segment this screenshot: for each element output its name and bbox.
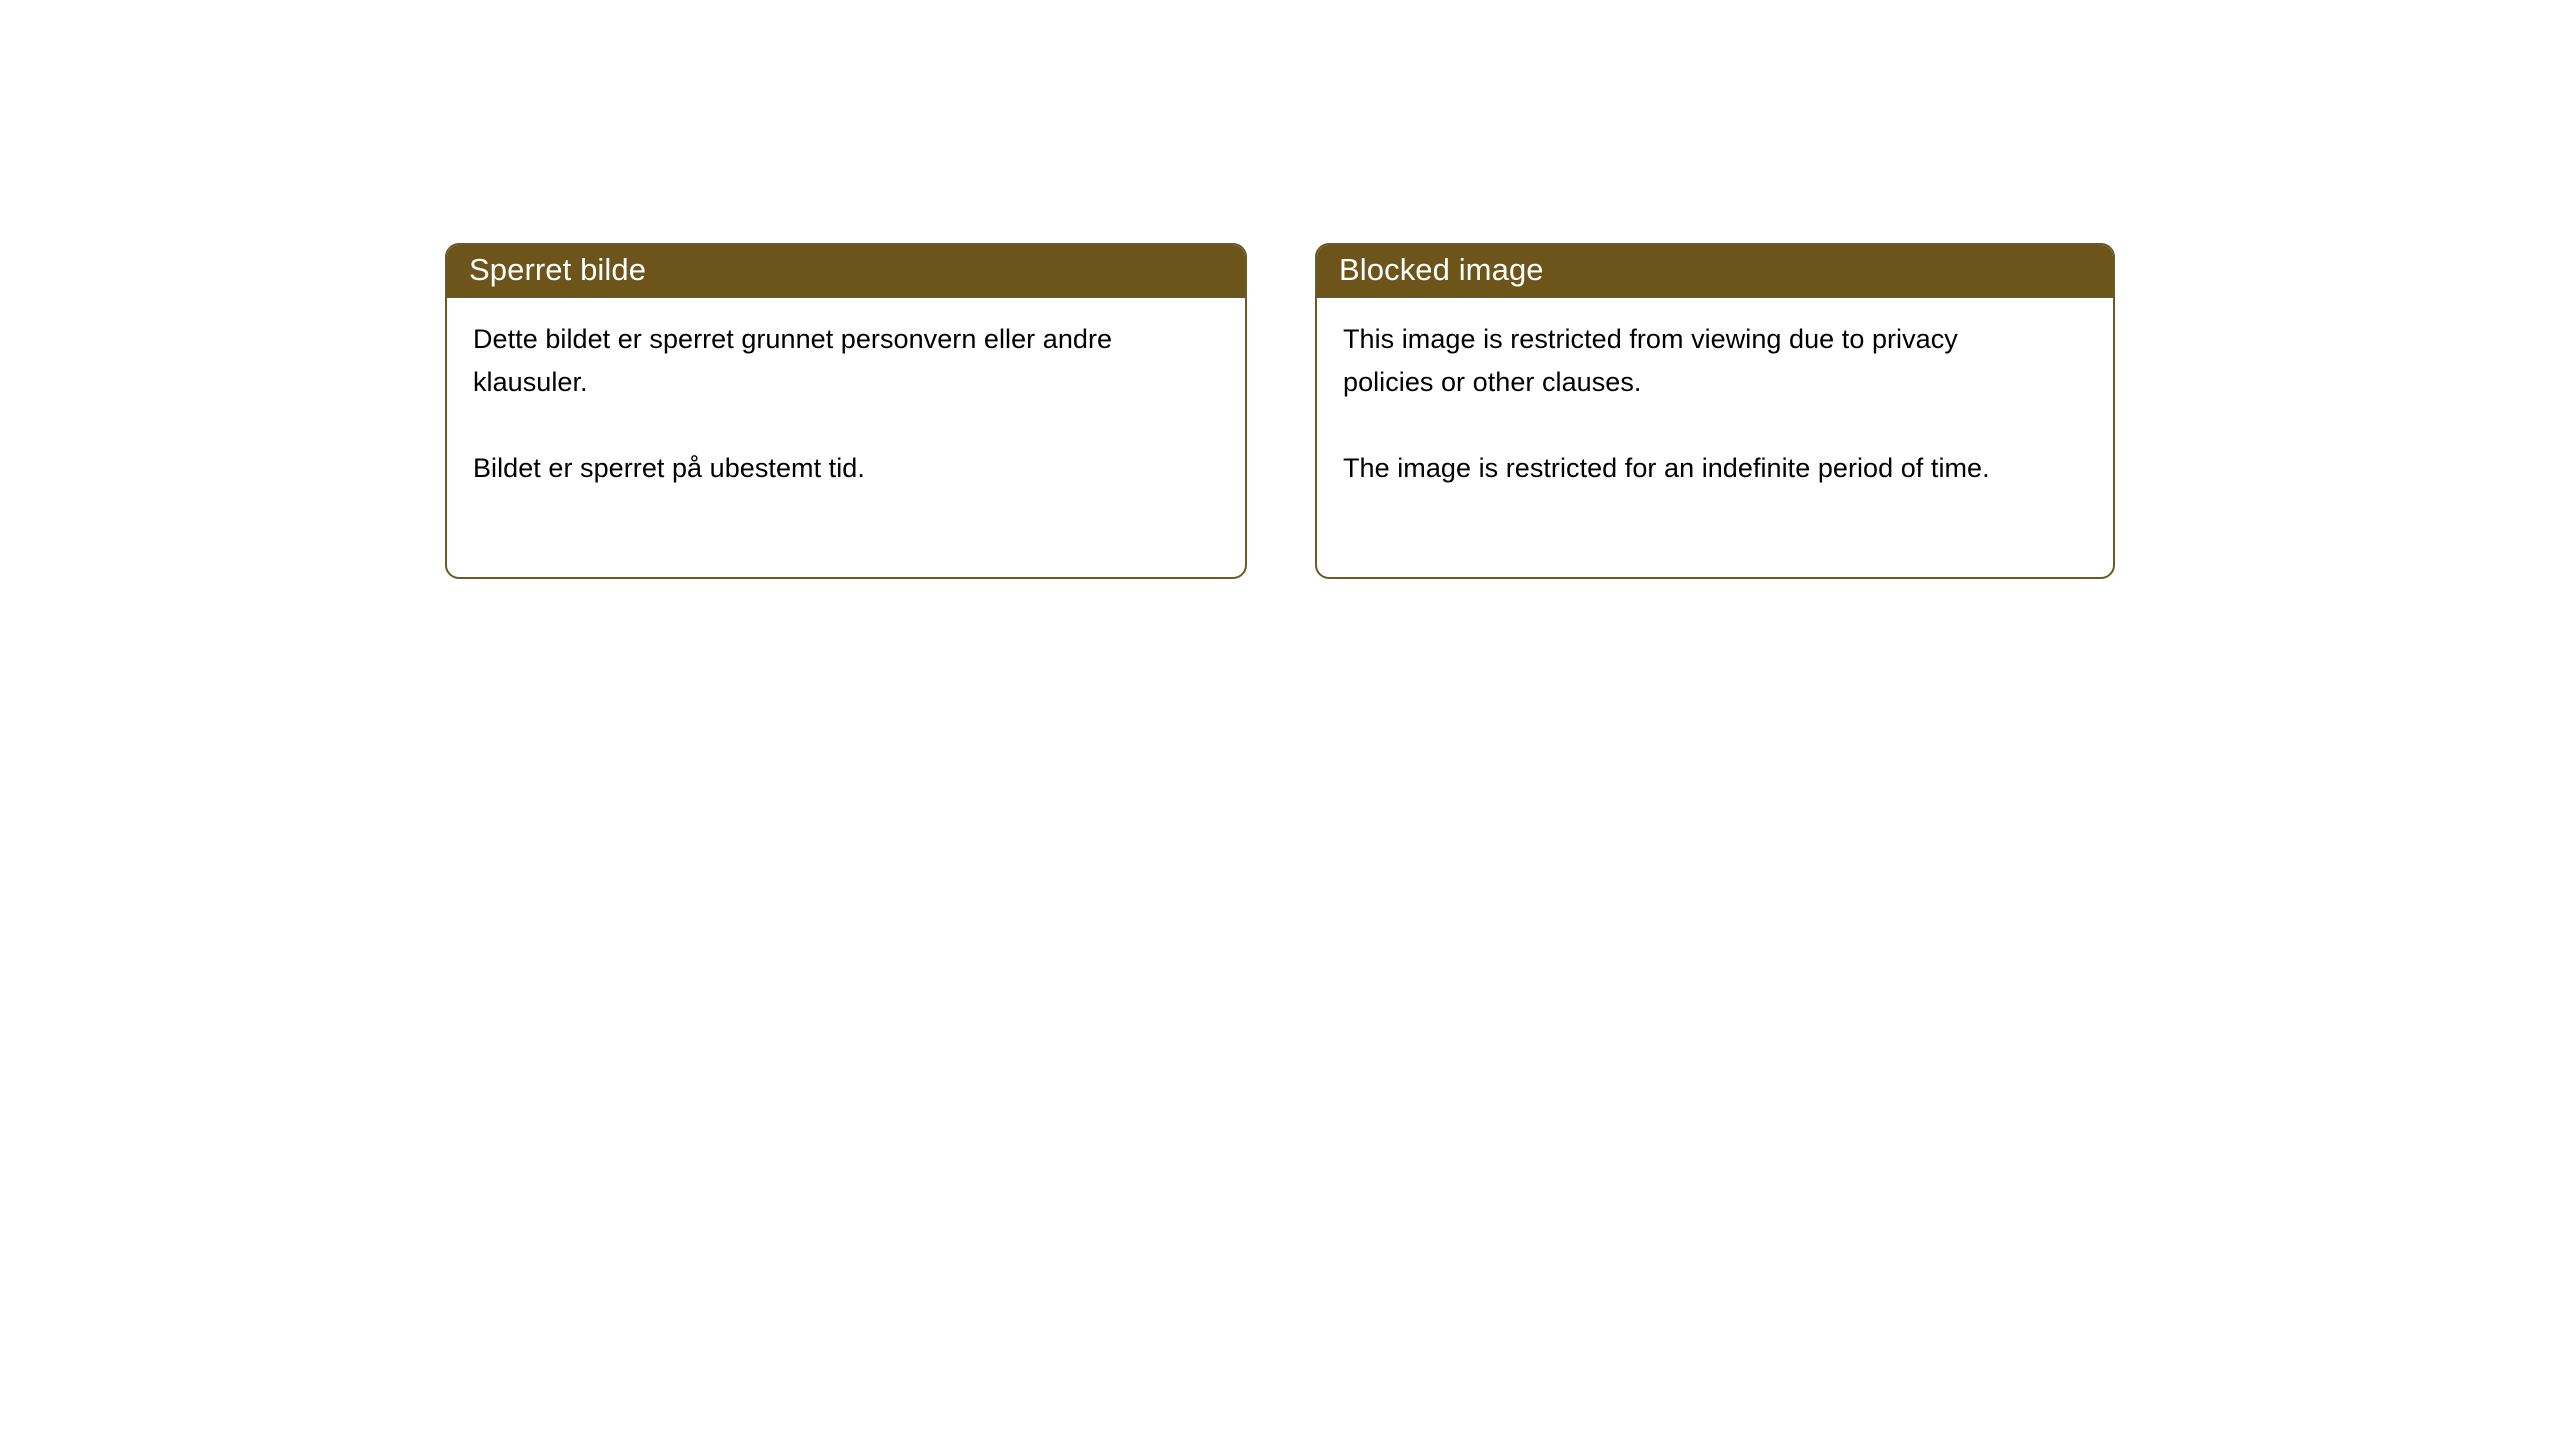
card-body-norwegian: Dette bildet er sperret grunnet personve… [447,298,1245,577]
card-paragraph-reason-norwegian: Dette bildet er sperret grunnet personve… [473,318,1173,404]
card-title-english: Blocked image [1339,254,1544,285]
card-body-english: This image is restricted from viewing du… [1317,298,2113,577]
page-canvas: Sperret bilde Dette bildet er sperret gr… [0,0,2560,1440]
blocked-image-card-norwegian: Sperret bilde Dette bildet er sperret gr… [445,243,1247,579]
blocked-image-card-english: Blocked image This image is restricted f… [1315,243,2115,579]
blocked-image-notice-group: Sperret bilde Dette bildet er sperret gr… [445,243,2115,579]
card-title-norwegian: Sperret bilde [469,254,646,285]
card-header-english: Blocked image [1315,243,2115,298]
card-header-norwegian: Sperret bilde [445,243,1247,298]
card-paragraph-reason-english: This image is restricted from viewing du… [1343,318,2043,404]
card-paragraph-duration-norwegian: Bildet er sperret på ubestemt tid. [473,447,1173,490]
card-paragraph-duration-english: The image is restricted for an indefinit… [1343,447,2043,490]
